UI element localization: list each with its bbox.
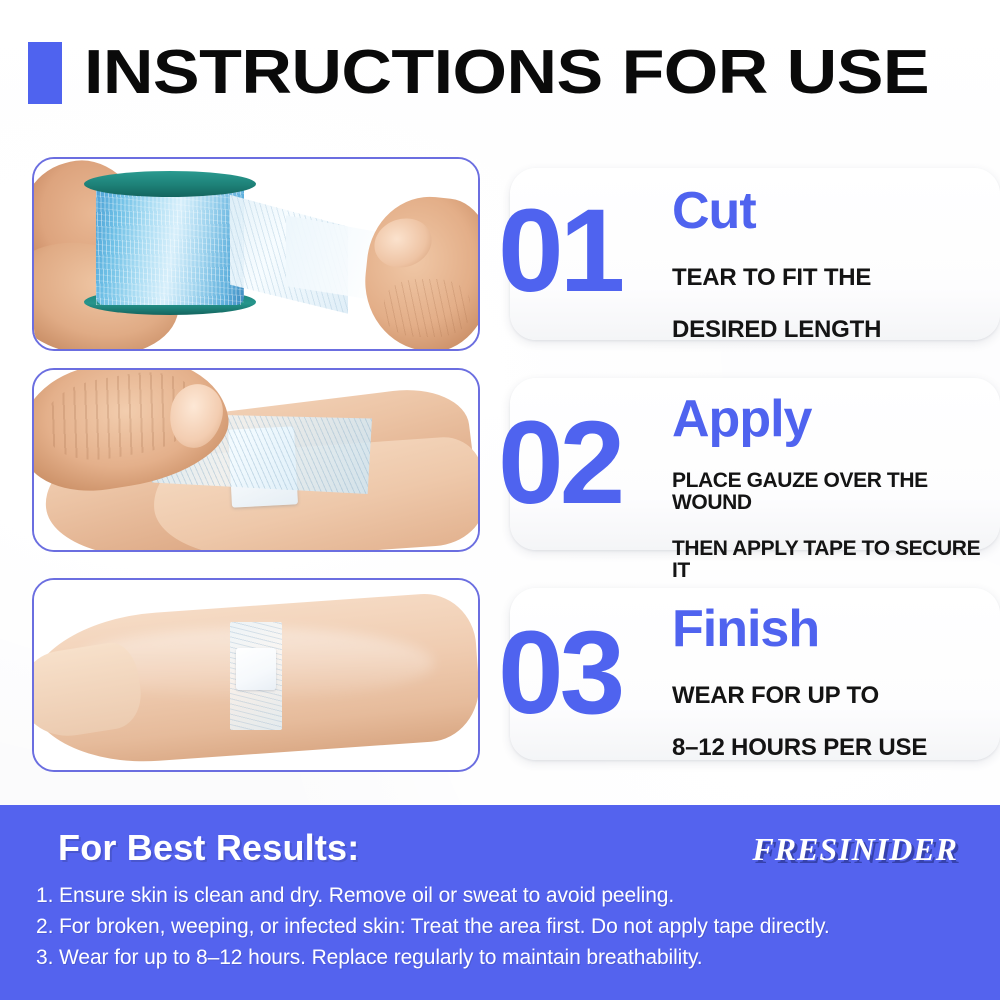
- step-text-block-02: Apply PLACE GAUZE OVER THE WOUND THEN AP…: [672, 394, 1000, 606]
- step-subtitle-line: PLACE GAUZE OVER THE WOUND: [672, 470, 1000, 515]
- step-subtitle-01: TEAR TO FIT THE DESIRED LENGTH: [672, 239, 881, 369]
- step-subtitle-03: WEAR FOR UP TO 8–12 HOURS PER USE: [672, 657, 927, 787]
- footer-heading: For Best Results:: [58, 827, 359, 869]
- step-number-02: 02: [498, 404, 621, 522]
- step-subtitle-line: DESIRED LENGTH: [672, 317, 881, 343]
- step-title-02: Apply: [672, 394, 1000, 445]
- step-card-02: 02 Apply PLACE GAUZE OVER THE WOUND THEN…: [510, 378, 1000, 550]
- instructions-infographic: INSTRUCTIONS FOR USE: [0, 0, 1000, 1000]
- footer-tip-item: 2. For broken, weeping, or infected skin…: [36, 911, 976, 942]
- footer-tip-item: 3. Wear for up to 8–12 hours. Replace re…: [36, 942, 976, 973]
- photo-illustration-applying-tape: [34, 370, 478, 550]
- brand-logo: FRESINIDER: [752, 831, 958, 868]
- step-number-03: 03: [498, 614, 621, 732]
- step-card-03: 03 Finish WEAR FOR UP TO 8–12 HOURS PER …: [510, 588, 1000, 760]
- step-text-block-03: Finish WEAR FOR UP TO 8–12 HOURS PER USE: [672, 604, 927, 786]
- step-subtitle-line: TEAR TO FIT THE: [672, 265, 881, 291]
- step-subtitle-line-emphasis: 8–12 HOURS PER USE: [672, 735, 927, 761]
- header-accent-bar: [28, 42, 62, 104]
- step-card-01: 01 Cut TEAR TO FIT THE DESIRED LENGTH: [510, 168, 1000, 340]
- footer-tip-item: 1. Ensure skin is clean and dry. Remove …: [36, 880, 976, 911]
- step-photo-apply: [32, 368, 480, 552]
- page-header: INSTRUCTIONS FOR USE: [0, 32, 1000, 114]
- footer-tips-list: 1. Ensure skin is clean and dry. Remove …: [36, 880, 976, 973]
- photo-illustration-finished-dressing: [34, 580, 478, 770]
- step-text-block-01: Cut TEAR TO FIT THE DESIRED LENGTH: [672, 186, 881, 368]
- page-title: INSTRUCTIONS FOR USE: [84, 42, 929, 104]
- step-subtitle-02: PLACE GAUZE OVER THE WOUND THEN APPLY TA…: [672, 447, 1000, 606]
- step-title-01: Cut: [672, 186, 881, 237]
- step-title-03: Finish: [672, 604, 927, 655]
- step-subtitle-line: THEN APPLY TAPE TO SECURE IT: [672, 538, 1000, 583]
- step-number-01: 01: [498, 192, 621, 310]
- photo-illustration-tape-spool: [34, 159, 478, 349]
- step-photo-cut: [32, 157, 480, 351]
- step-subtitle-emphasis: 8–12 HOURS: [672, 734, 817, 761]
- step-subtitle-line: WEAR FOR UP TO: [672, 683, 927, 709]
- step-subtitle-emphasis-rest: PER USE: [817, 734, 927, 761]
- footer-best-results: For Best Results: FRESINIDER 1. Ensure s…: [0, 805, 1000, 1000]
- step-photo-finish: [32, 578, 480, 772]
